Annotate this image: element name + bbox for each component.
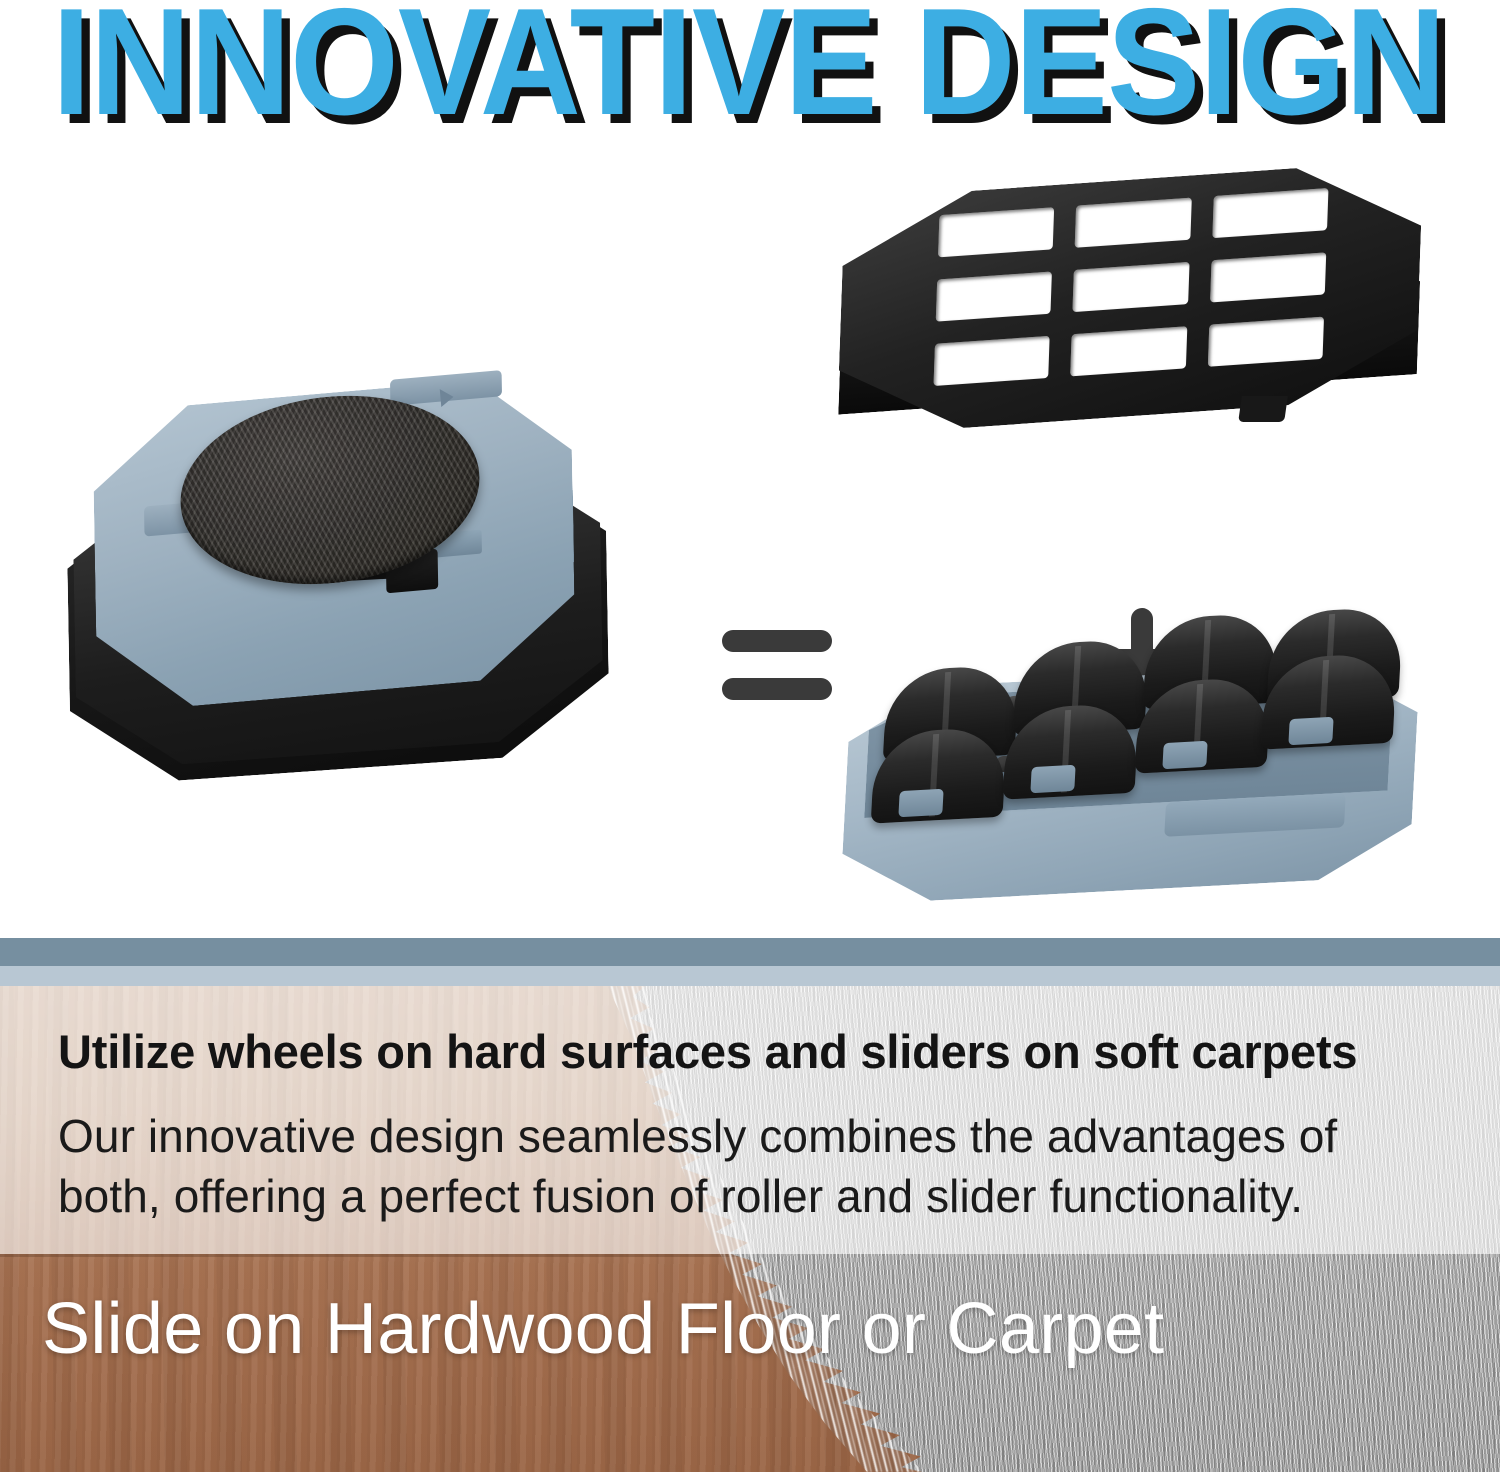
headline-text: INNOVATIVE DESIGN <box>52 0 1445 130</box>
divider-band-light <box>0 966 1500 986</box>
headline-banner: INNOVATIVE DESIGN INNOVATIVE DESIGN <box>0 0 1500 130</box>
feature-body-line-1: Our innovative design seamlessly combine… <box>58 1106 1458 1166</box>
grid-cutout <box>936 271 1053 321</box>
divider-band-slate <box>0 938 1500 966</box>
feature-body: Our innovative design seamlessly combine… <box>58 1106 1458 1226</box>
wheel-mount-clip <box>898 789 943 817</box>
equals-symbol <box>722 622 832 712</box>
roller-wheel-tray-image <box>845 602 1435 902</box>
wheel-mount-clip <box>1288 717 1333 745</box>
grid-cutout <box>1210 252 1327 302</box>
equals-bar-bottom <box>722 678 832 700</box>
page-title: INNOVATIVE DESIGN INNOVATIVE DESIGN <box>52 0 1445 130</box>
feature-heading: Utilize wheels on hard surfaces and slid… <box>58 1024 1458 1080</box>
grid-cutout <box>1070 326 1187 376</box>
feature-copy-block: Utilize wheels on hard surfaces and slid… <box>58 1024 1458 1226</box>
bottom-caption: Slide on Hardwood Floor or Carpet <box>42 1288 1164 1370</box>
grid-cutout <box>938 207 1055 257</box>
direction-arrow-right-icon <box>440 388 455 407</box>
feature-body-line-2: both, offering a perfect fusion of rolle… <box>58 1166 1458 1226</box>
grid-cutout <box>1073 262 1190 312</box>
wheel-mount-clip <box>1162 741 1207 769</box>
slider-grid-frame-image <box>840 180 1440 470</box>
wheel-mount-clip <box>1030 765 1075 793</box>
product-equation-panel <box>0 130 1500 938</box>
grid-frame-cutouts <box>933 188 1328 386</box>
equals-bar-top <box>722 630 832 652</box>
grid-frame-clip-tab <box>1238 396 1288 422</box>
grid-cutout <box>1207 317 1324 367</box>
grid-cutout <box>1075 198 1192 248</box>
assembled-product-image <box>60 345 630 745</box>
grid-cutout <box>1212 188 1329 238</box>
product-infographic: INNOVATIVE DESIGN INNOVATIVE DESIGN <box>0 0 1500 1472</box>
grid-cutout <box>933 336 1050 386</box>
